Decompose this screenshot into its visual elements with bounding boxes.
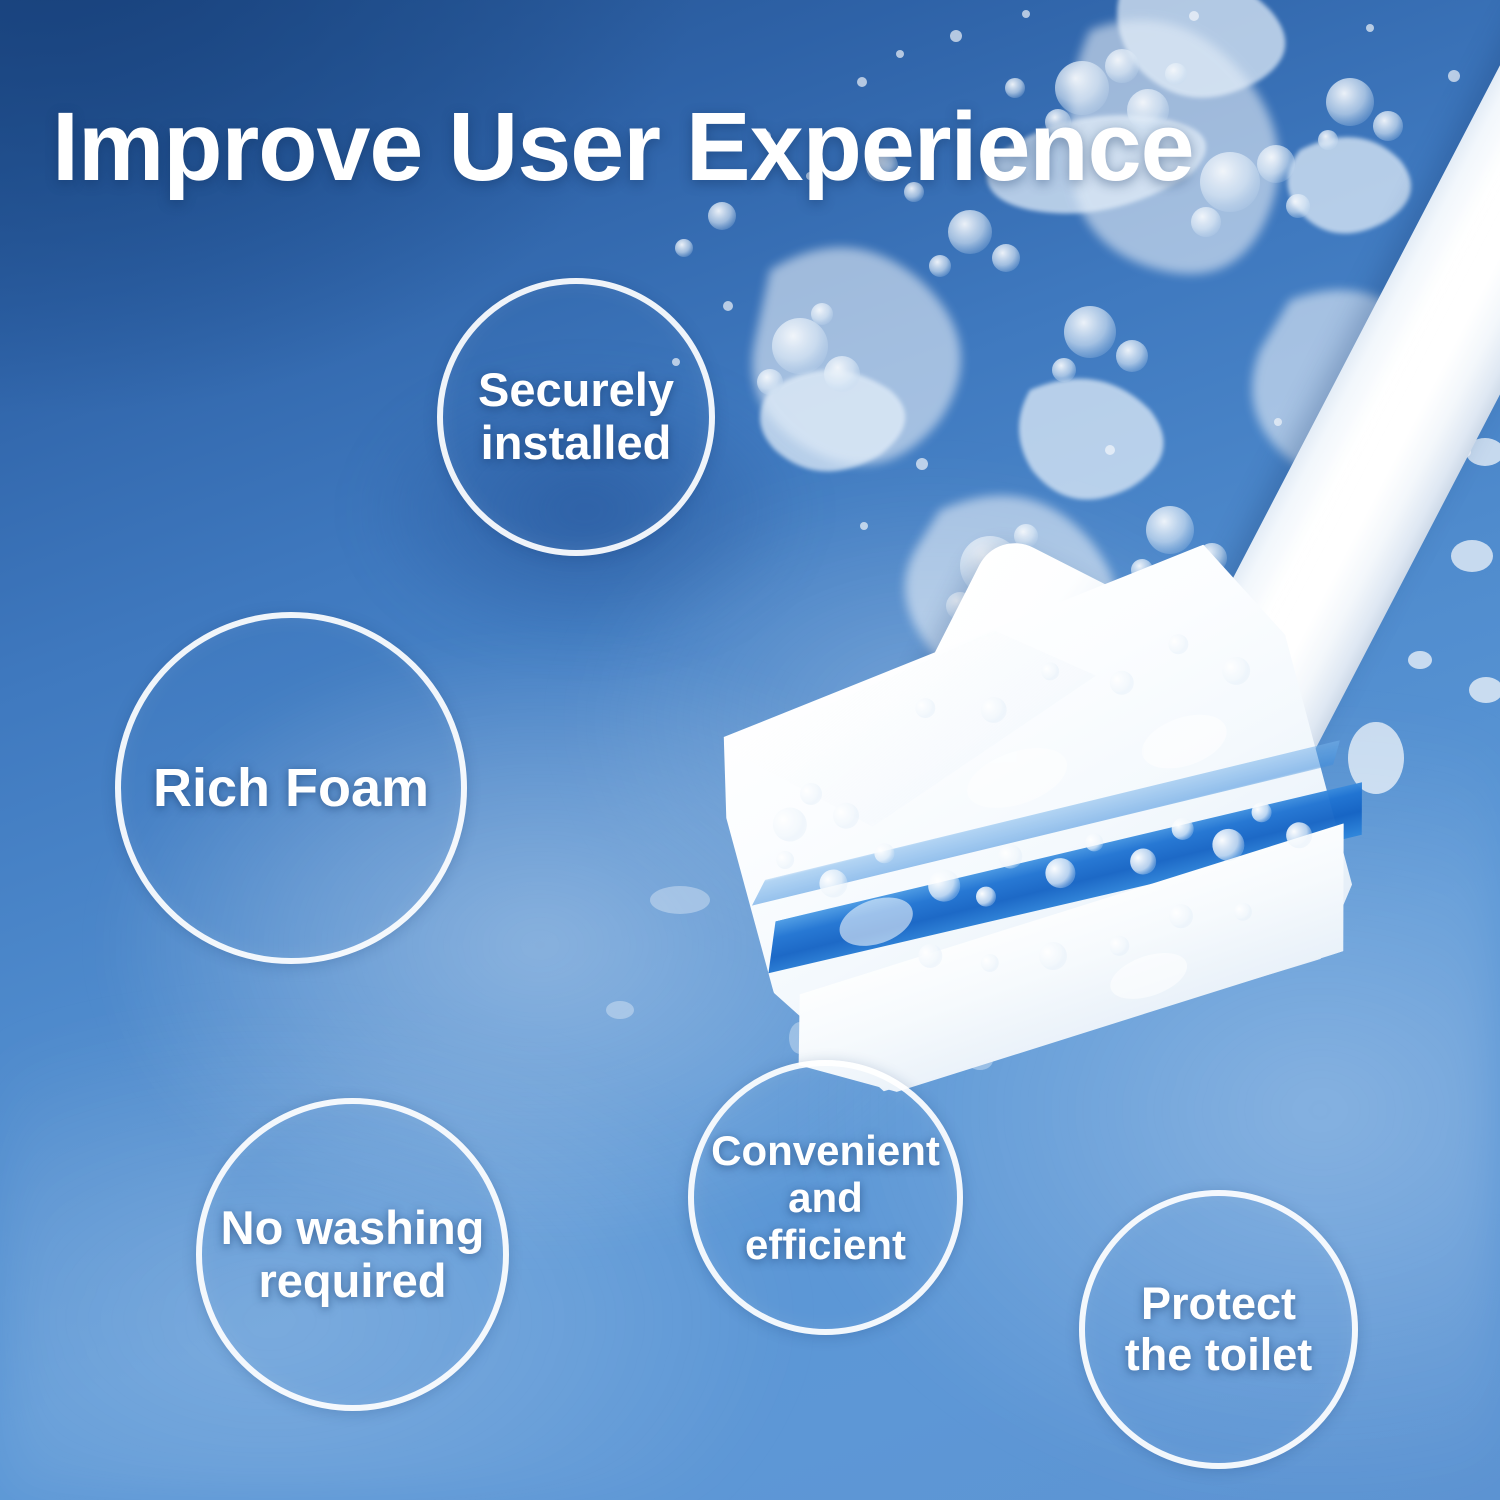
feature-label-line1: No washing [221,1201,485,1254]
feature-badge-label: Protect the toilet [1115,1279,1323,1380]
feature-badge-protect-the-toilet[interactable]: Protect the toilet [1079,1190,1358,1469]
blue-stripe-secondary [722,736,1345,915]
foam-bubbles-right [1280,360,1500,820]
foam-pad-fold [720,604,1119,863]
feature-label-line1: Securely [478,363,674,416]
feature-badge-convenient-and-efficient[interactable]: Convenient and efficient [688,1060,963,1335]
feature-badge-label: Rich Foam [143,758,439,818]
brush-neck [893,529,1167,820]
page-title: Improve User Experience [52,96,1194,198]
brush-head [681,529,1388,1131]
feature-label-line1: Convenient [711,1127,940,1174]
feature-badge-label: Securely installed [468,364,684,469]
feature-badge-no-washing-required[interactable]: No washing required [196,1098,509,1411]
feature-badge-rich-foam[interactable]: Rich Foam [115,612,467,964]
blue-stripe [731,775,1374,988]
feature-label-line2: required [258,1254,446,1307]
foam-pad [681,529,1388,1131]
feature-badge-label: Convenient and efficient [694,1127,957,1268]
feature-badge-securely-installed[interactable]: Securely installed [437,278,715,556]
feature-label-line1: Rich Foam [153,758,429,818]
marketing-banner: Improve User Experience Securely install… [0,0,1500,1500]
feature-label-line1: Protect [1141,1278,1296,1329]
brush-handle [1157,0,1500,795]
feature-badge-label: No washing required [211,1202,495,1307]
feature-label-line2: the toilet [1125,1329,1313,1380]
foam-on-pad [681,529,1388,1131]
feature-label-line2: and efficient [745,1174,906,1268]
handle-highlight [1186,0,1500,759]
feature-label-line2: installed [481,416,672,469]
